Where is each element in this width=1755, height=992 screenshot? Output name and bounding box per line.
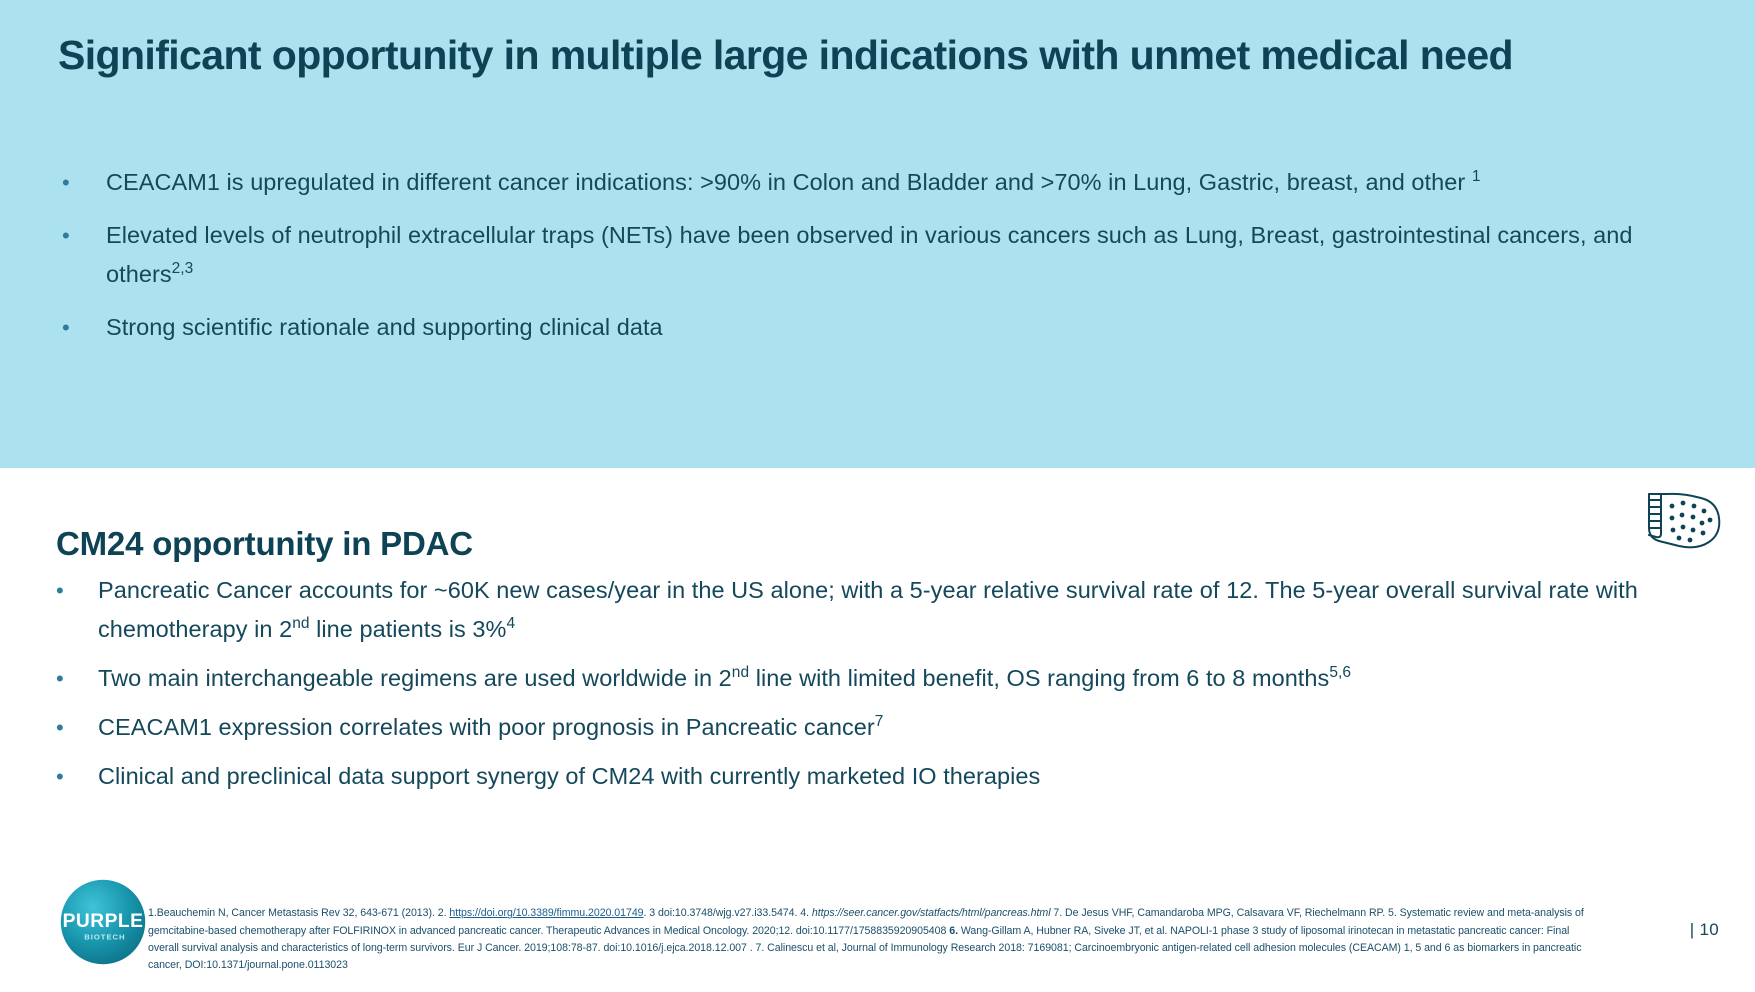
bullet-text: CEACAM1 expression correlates with poor … <box>98 708 1712 747</box>
list-item: • Two main interchangeable regimens are … <box>52 659 1712 698</box>
footnote-segment: 6. <box>949 925 958 937</box>
purple-biotech-logo: PURPLE BIOTECH <box>55 874 151 970</box>
footnote-ref: 4 <box>506 615 515 632</box>
bullet-text: Pancreatic Cancer accounts for ~60K new … <box>98 571 1712 649</box>
pancreas-icon <box>1639 488 1727 554</box>
bullet-text: Elevated levels of neutrophil extracellu… <box>106 216 1698 294</box>
pdac-opportunity-section: CM24 opportunity in PDAC • Pancreatic Ca… <box>0 468 1755 992</box>
footnote-ref: 2,3 <box>172 260 194 277</box>
bullet-text: CEACAM1 is upregulated in different canc… <box>106 163 1698 202</box>
bullet-text: Clinical and preclinical data support sy… <box>98 757 1712 796</box>
list-item: • Clinical and preclinical data support … <box>52 757 1712 796</box>
bullet-segment: Two main interchangeable regimens are us… <box>98 665 732 691</box>
list-item: • CEACAM1 is upregulated in different ca… <box>58 163 1698 202</box>
bullet-text-body: Strong scientific rationale and supporti… <box>106 314 663 340</box>
bullet-segment: Clinical and preclinical data support sy… <box>98 763 1040 789</box>
bullet-marker-icon: • <box>52 708 98 747</box>
footnote-ref: 1 <box>1472 168 1481 185</box>
logo-subwordmark: BIOTECH <box>84 932 125 941</box>
bullet-text: Two main interchangeable regimens are us… <box>98 659 1712 698</box>
bullet-marker-icon: • <box>52 571 98 610</box>
bullet-marker-icon: • <box>58 308 106 347</box>
top-highlight-panel: Significant opportunity in multiple larg… <box>0 0 1755 468</box>
bullet-segment: CEACAM1 expression correlates with poor … <box>98 714 875 740</box>
footnote-segment: 1.Beauchemin N, Cancer Metastasis Rev 32… <box>148 907 449 919</box>
bullet-marker-icon: • <box>58 163 106 202</box>
bullet-marker-icon: • <box>52 659 98 698</box>
bullet-text-body: Elevated levels of neutrophil extracellu… <box>106 222 1632 287</box>
footnote-link[interactable]: https://doi.org/10.3389/fimmu.2020.01749 <box>449 907 643 919</box>
top-bullet-list: • CEACAM1 is upregulated in different ca… <box>58 163 1698 361</box>
bullet-marker-icon: • <box>58 216 106 255</box>
footnote-segment: . 3 doi:10.3748/wjg.v27.i33.5474. 4. <box>644 907 812 919</box>
ordinal-sup: nd <box>292 615 309 632</box>
logo-wordmark: PURPLE <box>63 911 144 932</box>
footnote-link[interactable]: https://seer.cancer.gov/statfacts/html/p… <box>812 907 1051 919</box>
section-title: CM24 opportunity in PDAC <box>56 525 473 563</box>
bullet-segment: line with limited benefit, OS ranging fr… <box>749 665 1329 691</box>
list-item: • Elevated levels of neutrophil extracel… <box>58 216 1698 294</box>
footnote-ref: 7 <box>875 713 884 730</box>
slide-title: Significant opportunity in multiple larg… <box>58 28 1558 83</box>
bullet-text: Strong scientific rationale and supporti… <box>106 308 1698 347</box>
page-number: | 10 <box>1690 920 1719 940</box>
list-item: • CEACAM1 expression correlates with poo… <box>52 708 1712 747</box>
list-item: • Pancreatic Cancer accounts for ~60K ne… <box>52 571 1712 649</box>
pdac-bullet-list: • Pancreatic Cancer accounts for ~60K ne… <box>52 571 1712 806</box>
bullet-marker-icon: • <box>52 757 98 796</box>
footnote-ref: 5,6 <box>1329 664 1351 681</box>
list-item: • Strong scientific rationale and suppor… <box>58 308 1698 347</box>
footnote-references: 1.Beauchemin N, Cancer Metastasis Rev 32… <box>148 905 1588 974</box>
bullet-segment: line patients is 3% <box>310 616 507 642</box>
bullet-text-body: CEACAM1 is upregulated in different canc… <box>106 169 1472 195</box>
ordinal-sup: nd <box>732 664 749 681</box>
